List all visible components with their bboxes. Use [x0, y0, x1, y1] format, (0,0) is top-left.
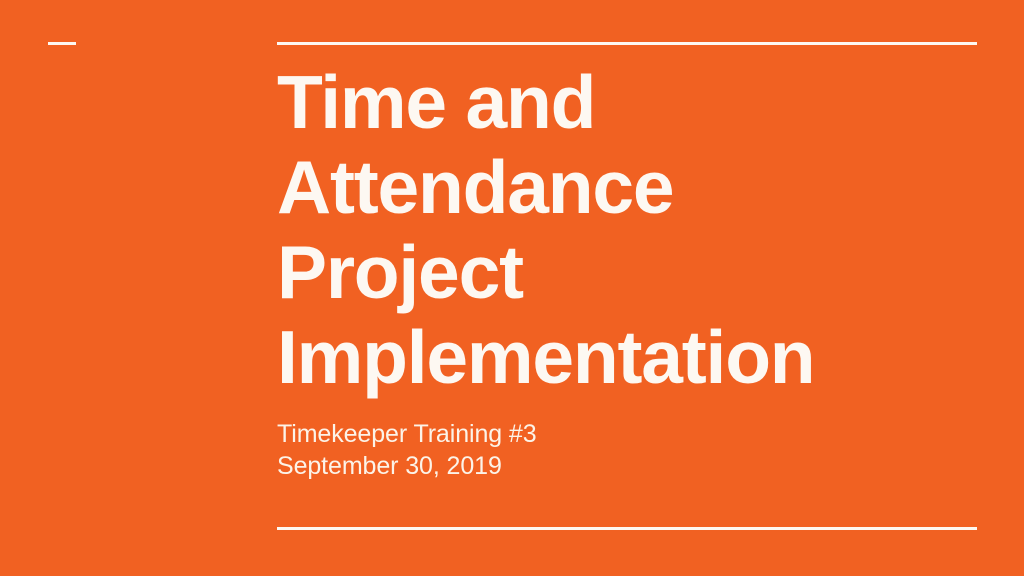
slide-content: Time and Attendance Project Implementati…	[277, 60, 987, 482]
slide-title: Time and Attendance Project Implementati…	[277, 60, 987, 400]
slide-subtitle: Timekeeper Training #3 September 30, 201…	[277, 400, 987, 482]
title-slide: Time and Attendance Project Implementati…	[0, 0, 1024, 576]
dash-mark-icon	[48, 42, 76, 45]
top-divider-rule	[277, 42, 977, 45]
bottom-divider-rule	[277, 527, 977, 530]
